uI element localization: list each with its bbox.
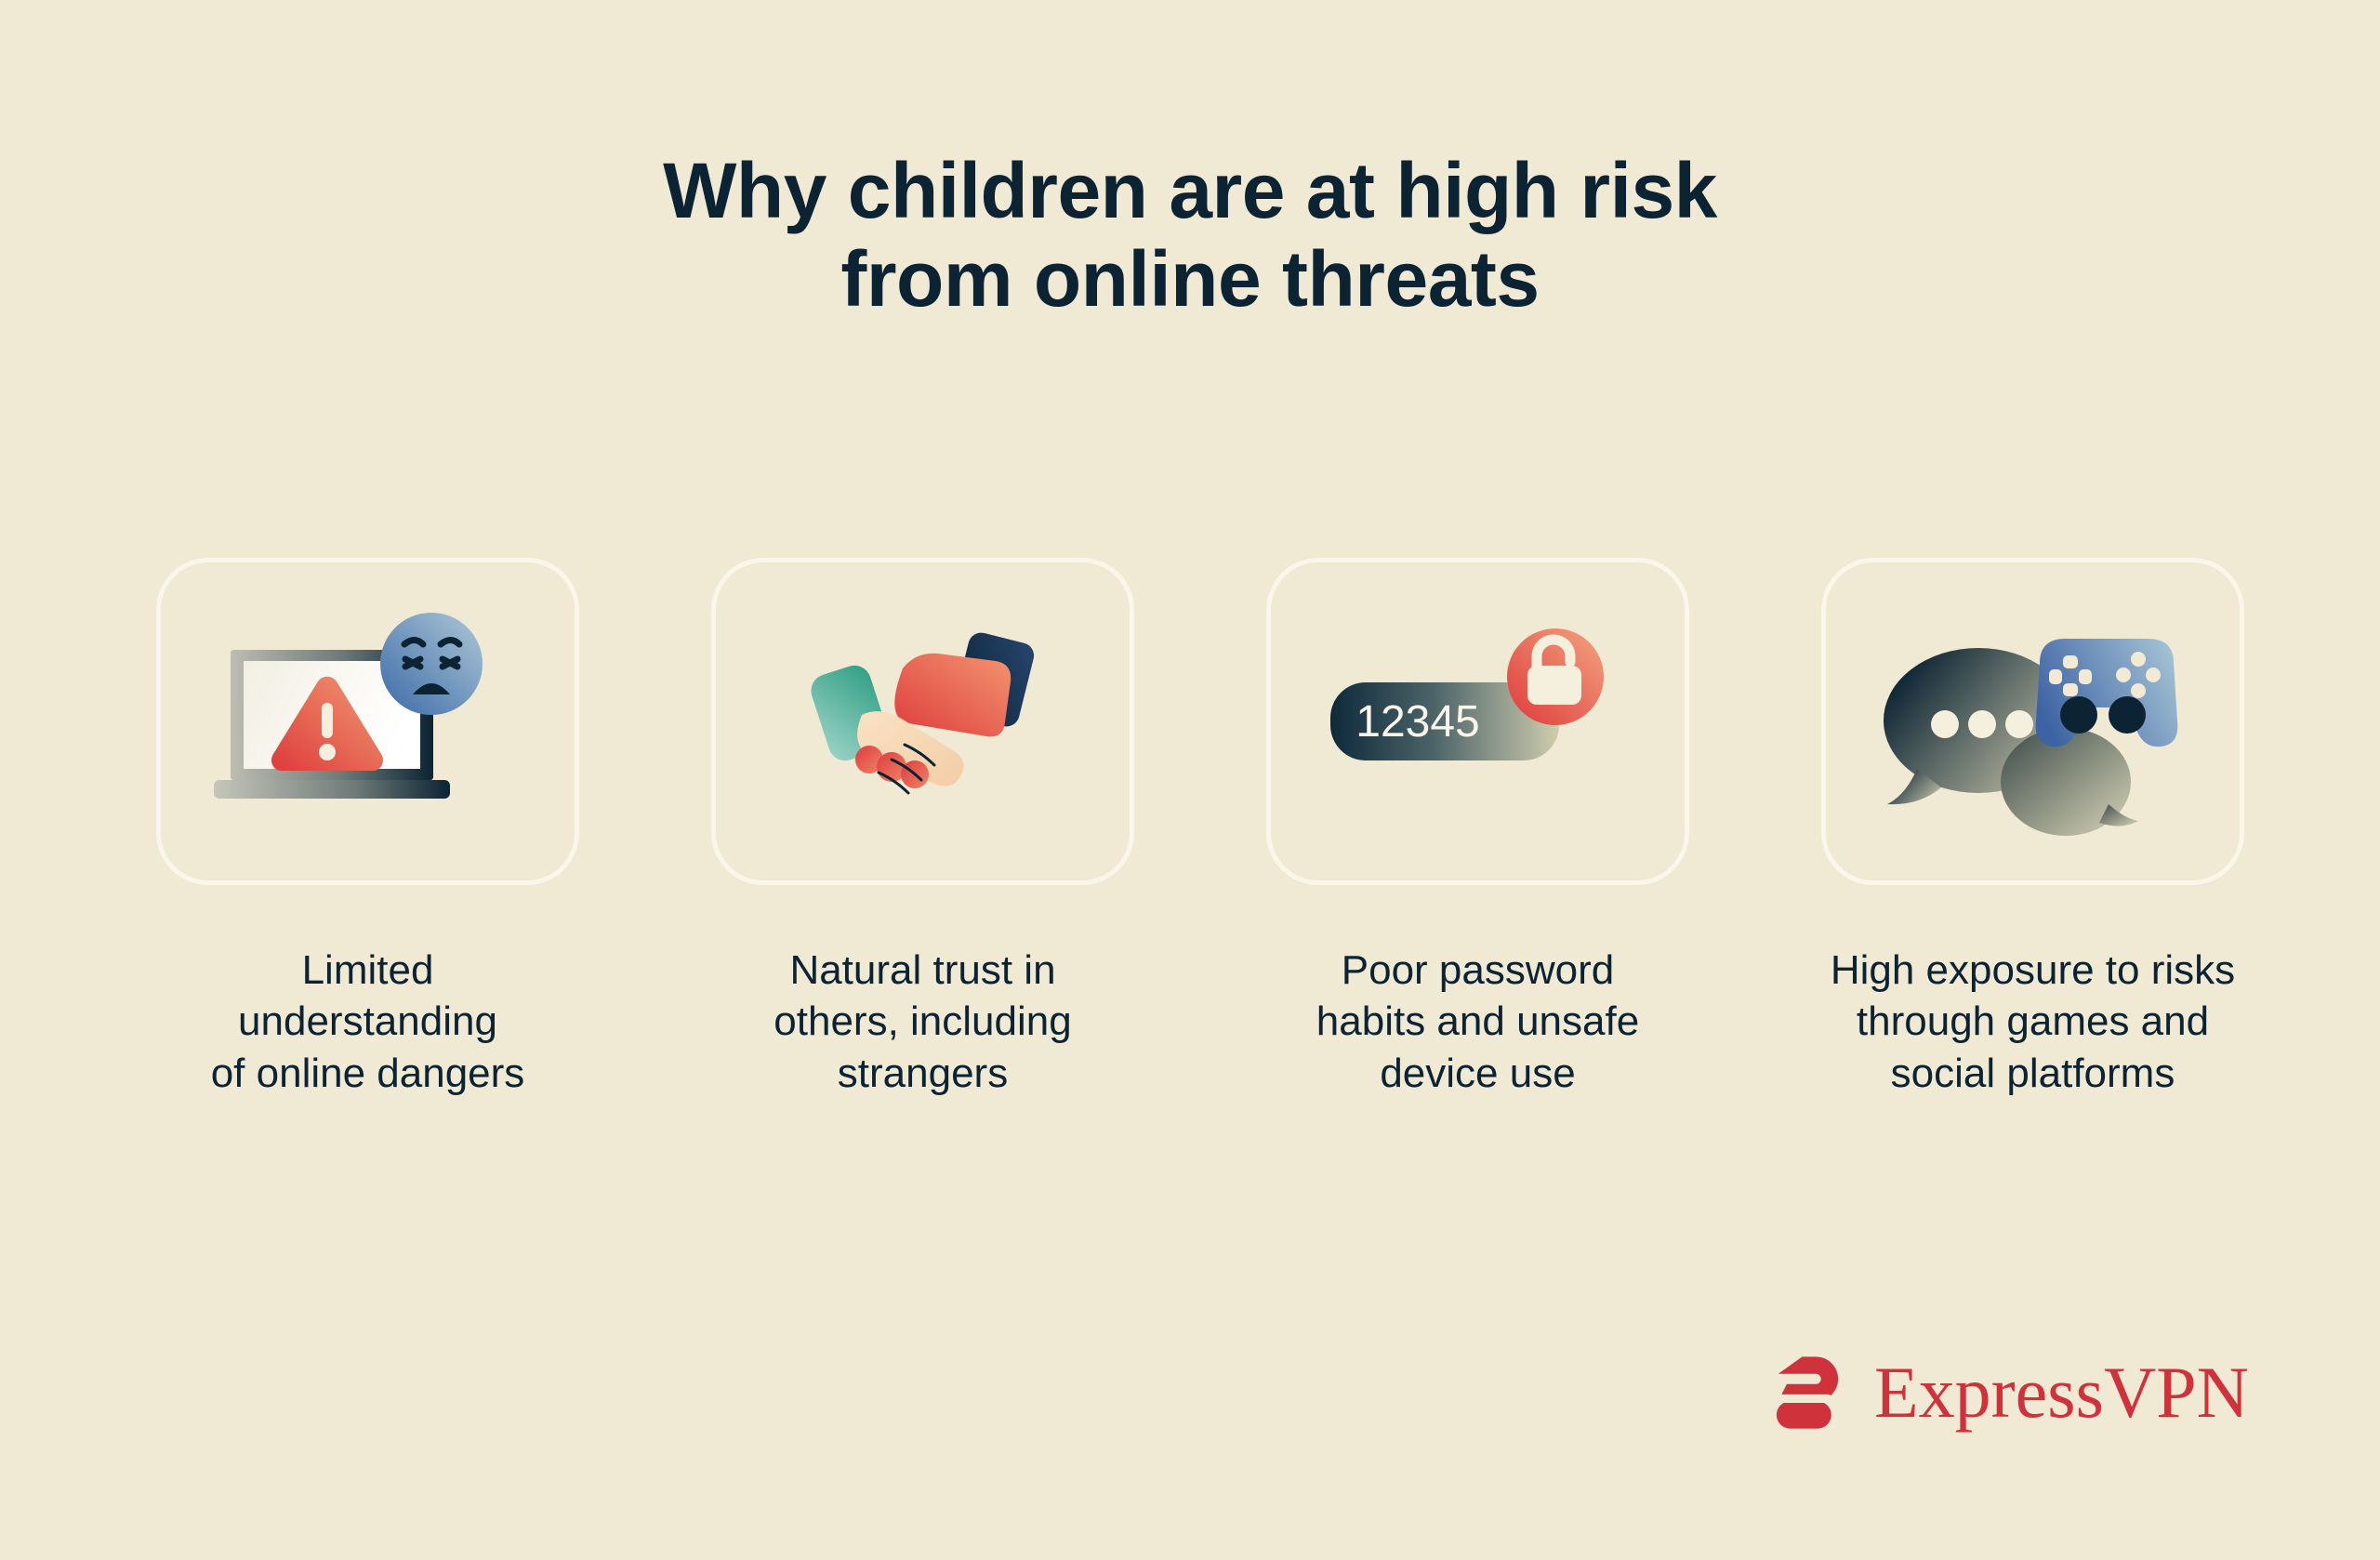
- infographic-root: Why children are at high risk from onlin…: [0, 0, 2380, 1560]
- chat-bubble-secondary-icon: [2001, 728, 2138, 836]
- title-line-1: Why children are at high risk: [0, 147, 2380, 235]
- expressvpn-wordmark: ExpressVPN: [1874, 1356, 2249, 1429]
- caption-1-line-1: Limited: [126, 945, 610, 996]
- laptop-warning-sad-face-icon: [210, 605, 526, 838]
- caption-4: High exposure to risks through games and…: [1792, 945, 2275, 1099]
- page-title: Why children are at high risk from onlin…: [0, 147, 2380, 324]
- risk-cards-row: Limited understanding of online dangers: [156, 558, 2248, 1099]
- caption-2-line-1: Natural trust in: [681, 945, 1165, 996]
- risk-card-natural-trust: Natural trust in others, including stran…: [711, 558, 1134, 1099]
- icon-card-4: [1821, 558, 2244, 885]
- title-line-2: from online threats: [0, 235, 2380, 324]
- caption-3-line-3: device use: [1236, 1048, 1720, 1099]
- chat-bubbles-game-controller-icon: [1880, 605, 2187, 838]
- caption-3: Poor password habits and unsafe device u…: [1236, 945, 1720, 1099]
- risk-card-limited-understanding: Limited understanding of online dangers: [156, 558, 579, 1099]
- icon-card-2: [711, 558, 1134, 885]
- caption-1: Limited understanding of online dangers: [126, 945, 610, 1099]
- caption-1-line-3: of online dangers: [126, 1048, 610, 1099]
- icon-card-3: 12345: [1266, 558, 1689, 885]
- game-controller-icon: [2035, 639, 2177, 747]
- risk-card-high-exposure: High exposure to risks through games and…: [1821, 558, 2244, 1099]
- icon-card-1: [156, 558, 579, 885]
- caption-1-line-2: understanding: [126, 996, 610, 1047]
- handshake-icon: [784, 615, 1063, 828]
- password-field-open-lock-icon: 12345: [1325, 619, 1632, 824]
- caption-3-line-2: habits and unsafe: [1236, 996, 1720, 1047]
- caption-3-line-1: Poor password: [1236, 945, 1720, 996]
- caption-2-line-3: strangers: [681, 1048, 1165, 1099]
- caption-4-line-2: through games and: [1792, 996, 2275, 1047]
- open-lock-icon: [1507, 628, 1604, 725]
- caption-4-line-1: High exposure to risks: [1792, 945, 2275, 996]
- caption-2-line-2: others, including: [681, 996, 1165, 1047]
- expressvpn-logo[interactable]: ExpressVPN: [1765, 1350, 2249, 1435]
- caption-2: Natural trust in others, including stran…: [681, 945, 1165, 1099]
- expressvpn-e-logo-icon: [1765, 1350, 1850, 1435]
- caption-4-line-3: social platforms: [1792, 1048, 2275, 1099]
- password-value: 12345: [1355, 697, 1479, 747]
- risk-card-poor-password: 12345 Poor password habits and unsafe de…: [1266, 558, 1689, 1099]
- distressed-face-icon: [380, 613, 483, 715]
